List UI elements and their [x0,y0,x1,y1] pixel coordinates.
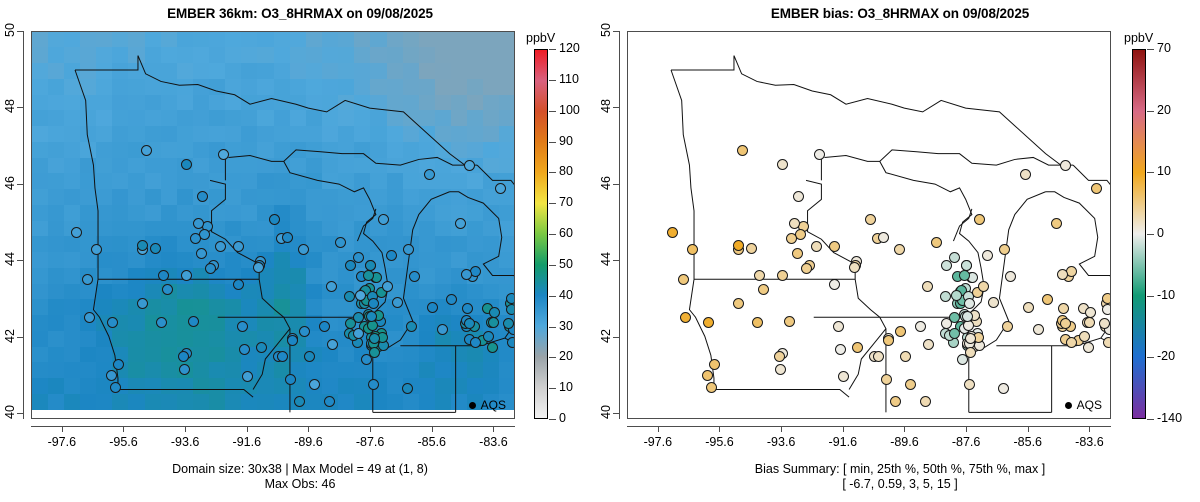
station-marker [181,159,192,170]
map-boundary-line [253,279,290,389]
x-axis-tick-label: -91.6 [813,435,873,449]
station-marker [355,290,366,301]
colorbar-tick [549,265,556,266]
station-marker [754,270,765,281]
station-marker [1084,317,1095,328]
model-map-frame: AQS [31,31,515,419]
y-axis-tick-label: 40 [3,395,17,429]
station-marker [849,262,860,273]
panel-bias: EMBER bias: O3_8HRMAX on 09/08/2025 AQS … [600,0,1200,502]
colorbar-tick [549,296,556,297]
x-axis-tick-label: -87.6 [340,435,400,449]
station-marker [506,304,515,315]
station-marker [489,307,500,318]
station-marker [162,284,173,295]
station-marker [368,379,379,390]
station-marker [253,262,264,273]
x-axis-tick-label: -83.6 [1059,435,1119,449]
bias-colorbar-unit: ppbV [1124,31,1153,45]
bias-map-frame: AQS [627,31,1111,419]
station-marker [197,191,208,202]
y-axis-line [23,31,24,419]
station-marker [464,318,475,329]
y-axis-tick [17,413,23,414]
colorbar-tick-label: 10 [559,380,573,394]
station-marker [1042,294,1053,305]
station-marker [488,317,499,328]
station-marker [446,294,457,305]
x-axis-tick [123,426,124,432]
station-marker [1099,318,1110,329]
x-axis-line [31,426,515,427]
station-marker [239,344,250,355]
station-marker [777,159,788,170]
station-marker [835,344,846,355]
station-marker [345,260,356,271]
station-marker [878,232,889,243]
bias-map-outlines [628,32,1110,418]
map-boundary-line [671,56,1073,166]
colorbar-tick-label: 20 [1157,103,1171,117]
x-axis-tick [247,426,248,432]
colorbar-tick-label: 110 [559,72,579,86]
colorbar-tick-label: 80 [559,164,573,178]
colorbar-tick [549,234,556,235]
station-marker [931,237,942,248]
station-marker [181,270,192,281]
map-boundary-line [75,56,477,166]
station-marker [922,281,933,292]
figure-canvas: EMBER 36km: O3_8HRMAX on 09/08/2025 AQS … [0,0,1200,502]
model-aqs-legend: AQS [469,398,506,412]
station-marker [1058,303,1069,314]
x-axis-tick-label: -83.6 [463,435,523,449]
station-marker [237,321,248,332]
colorbar-tick [549,49,556,50]
y-axis-tick-label: 42 [3,319,17,353]
y-axis-line [619,31,620,419]
station-marker [1066,266,1077,277]
station-marker [470,266,481,277]
y-axis-tick-label: 44 [599,242,613,276]
station-marker [106,370,117,381]
station-marker [951,290,962,301]
panel-model: EMBER 36km: O3_8HRMAX on 09/08/2025 AQS … [0,0,600,502]
station-marker [1002,321,1013,332]
station-marker [1060,318,1071,329]
station-marker [363,270,374,281]
station-marker [829,241,840,252]
station-marker [793,191,804,202]
station-marker [156,317,167,328]
station-marker [82,274,93,285]
y-axis-tick [17,337,23,338]
aqs-legend-label: AQS [1077,398,1102,412]
map-boundary-line [849,279,886,389]
model-caption-line2: Max Obs: 46 [0,477,600,492]
station-marker [1020,169,1031,180]
x-axis-tick-label: -95.6 [93,435,153,449]
colorbar-tick [549,142,556,143]
colorbar-tick-label: -10 [1157,288,1175,302]
station-marker [205,263,216,274]
model-colorbar-gradient [534,49,548,419]
colorbar-tick [1147,49,1154,50]
station-marker [190,233,201,244]
station-marker [678,274,689,285]
x-axis-tick [62,426,63,432]
station-marker [141,145,152,156]
station-marker [378,214,389,225]
station-marker [737,145,748,156]
station-marker [507,337,515,348]
station-marker [179,364,190,375]
y-axis-tick-label: 46 [3,166,17,200]
aqs-dot-icon [469,402,476,409]
station-marker [852,342,863,353]
x-axis-tick-label: -91.6 [217,435,277,449]
colorbar-tick [549,80,556,81]
colorbar-tick-label: 70 [559,195,573,209]
station-marker [406,321,417,332]
station-marker [386,250,397,261]
station-marker [335,237,346,248]
colorbar-tick [549,388,556,389]
station-marker [774,351,785,362]
station-marker [801,263,812,274]
y-axis-tick-label: 46 [599,166,613,200]
model-colorbar: ppbV 0102030405060708090100110120 [520,31,600,419]
model-caption-line1: Domain size: 30x38 | Max Model = 49 at (… [0,462,600,477]
x-axis-line [627,426,1111,427]
station-marker [709,359,720,370]
bias-aqs-legend: AQS [1065,398,1102,412]
station-marker [327,339,338,350]
station-marker [706,382,717,393]
station-marker [193,218,204,229]
x-axis-tick [658,426,659,432]
station-marker [786,233,797,244]
station-marker [402,383,413,394]
x-axis-tick [719,426,720,432]
station-marker [999,244,1010,255]
station-marker [811,241,822,252]
x-axis-tick [1028,426,1029,432]
colorbar-tick [549,357,556,358]
station-marker [233,279,244,290]
station-marker [1023,302,1034,313]
colorbar-tick-label: 90 [559,134,573,148]
colorbar-tick [1147,296,1154,297]
colorbar-tick-label: 50 [559,257,573,271]
colorbar-tick-label: -140 [1157,411,1182,425]
station-marker [409,271,420,282]
station-marker [814,149,825,160]
station-marker [957,354,968,365]
y-axis-tick [17,107,23,108]
map-boundary-line [228,150,468,165]
station-marker [1057,269,1068,280]
station-marker [775,364,786,375]
y-axis-tick [613,107,619,108]
y-axis-tick-label: 50 [599,13,613,47]
station-marker [218,149,229,160]
x-axis-tick [432,426,433,432]
colorbar-tick [1147,172,1154,173]
panel-model-title: EMBER 36km: O3_8HRMAX on 09/08/2025 [0,6,600,21]
station-marker [838,371,849,382]
station-marker [789,218,800,229]
x-axis-tick [185,426,186,432]
colorbar-tick-label: 40 [559,288,573,302]
station-marker [959,270,970,281]
x-axis-tick-label: -95.6 [689,435,749,449]
y-axis-tick [613,413,619,414]
station-marker [506,293,515,304]
x-axis-tick-label: -89.6 [874,435,934,449]
aqs-legend-label: AQS [481,398,506,412]
colorbar-tick [549,327,556,328]
station-marker [361,354,372,365]
station-marker [1005,271,1016,282]
x-axis-tick [308,426,309,432]
station-marker [256,342,267,353]
station-marker [461,269,472,280]
colorbar-tick-label: 10 [1157,164,1171,178]
colorbar-tick [549,172,556,173]
x-axis-tick-label: -97.6 [32,435,92,449]
station-marker [462,303,473,314]
y-axis-tick [613,260,619,261]
station-marker [1051,218,1062,229]
map-boundary-line [824,150,1064,165]
y-axis-tick [613,337,619,338]
y-axis-tick [17,184,23,185]
x-axis-tick-label: -89.6 [278,435,338,449]
station-marker [1085,307,1096,318]
aqs-dot-icon [1065,402,1072,409]
colorbar-tick-label: 120 [559,41,580,55]
station-marker [883,335,894,346]
station-marker [455,218,466,229]
x-axis-tick [1089,426,1090,432]
station-marker [503,318,514,329]
station-marker [326,281,337,292]
station-marker [982,250,993,261]
y-axis-tick-label: 44 [3,242,17,276]
y-axis-tick-label: 48 [599,89,613,123]
station-marker [113,359,124,370]
station-marker [829,279,840,290]
station-marker [964,298,975,309]
station-marker [424,169,435,180]
station-marker [137,240,148,251]
station-marker [702,370,713,381]
colorbar-tick [1147,357,1154,358]
station-marker [964,379,975,390]
x-axis-tick-label: -93.6 [155,435,215,449]
colorbar-tick-label: 100 [559,103,580,117]
y-axis-tick [17,31,23,32]
y-axis-tick-label: 48 [3,89,17,123]
colorbar-tick [1147,419,1154,420]
x-axis-tick-label: -97.6 [628,435,688,449]
station-marker [242,371,253,382]
station-marker [282,232,293,243]
bias-caption-line2: [ -6.7, 0.59, 3, 5, 15 ] [600,477,1200,492]
station-marker [110,382,121,393]
model-caption: Domain size: 30x38 | Max Model = 49 at (… [0,462,600,492]
station-marker [777,270,788,281]
colorbar-tick [1147,111,1154,112]
y-axis-tick-label: 50 [3,13,17,47]
panel-bias-title: EMBER bias: O3_8HRMAX on 09/08/2025 [600,6,1200,21]
colorbar-tick-label: 30 [559,319,573,333]
station-marker [215,241,226,252]
station-marker [758,284,769,295]
y-axis-tick [613,31,619,32]
map-boundary-line [714,389,849,397]
station-marker [703,317,714,328]
station-marker [833,321,844,332]
colorbar-tick [549,419,556,420]
y-axis-tick [613,184,619,185]
colorbar-tick-label: 0 [1157,226,1164,240]
y-axis-tick [17,260,23,261]
station-marker [680,312,691,323]
x-axis-tick [781,426,782,432]
station-marker [923,339,934,350]
y-axis-tick-label: 40 [599,395,613,429]
x-axis-tick [493,426,494,432]
bias-caption-line1: Bias Summary: [ min, 25th %, 50th %, 75t… [600,462,1200,477]
colorbar-tick-label: 20 [559,349,573,363]
colorbar-tick-label: 0 [559,411,566,425]
x-axis-tick-label: -87.6 [936,435,996,449]
map-boundary-line [118,389,253,397]
station-marker [158,270,169,281]
bias-caption: Bias Summary: [ min, 25th %, 50th %, 75t… [600,462,1200,492]
station-marker [998,383,1009,394]
x-axis-tick-label: -85.6 [402,435,462,449]
x-axis-tick [966,426,967,432]
colorbar-tick [1147,234,1154,235]
station-marker [974,214,985,225]
x-axis-tick [370,426,371,432]
station-marker [752,317,763,328]
station-marker [483,331,494,342]
x-axis-tick-label: -85.6 [998,435,1058,449]
station-marker [84,312,95,323]
model-map-outlines [32,32,514,418]
bias-colorbar-gradient [1132,49,1146,419]
colorbar-tick-label: 70 [1157,41,1171,55]
station-marker [1103,337,1111,348]
station-marker [920,396,931,407]
colorbar-tick [549,111,556,112]
station-marker [941,260,952,271]
station-marker [733,240,744,251]
x-axis-tick-label: -93.6 [751,435,811,449]
station-marker [107,317,118,328]
station-marker [233,241,244,252]
colorbar-tick [549,203,556,204]
station-marker [1102,304,1111,315]
station-marker [427,302,438,313]
colorbar-tick-label: -20 [1157,349,1175,363]
colorbar-tick-label: 60 [559,226,573,240]
station-marker [1079,331,1090,342]
station-marker [324,396,335,407]
bias-colorbar: ppbV -140-20-100102070 [1116,31,1200,419]
station-marker [1102,293,1111,304]
x-axis-tick [904,426,905,432]
model-colorbar-unit: ppbV [526,31,555,45]
station-marker [178,351,189,362]
x-axis-tick [843,426,844,432]
y-axis-tick-label: 42 [599,319,613,353]
station-marker [368,298,379,309]
station-marker [403,244,414,255]
station-marker [287,335,298,346]
